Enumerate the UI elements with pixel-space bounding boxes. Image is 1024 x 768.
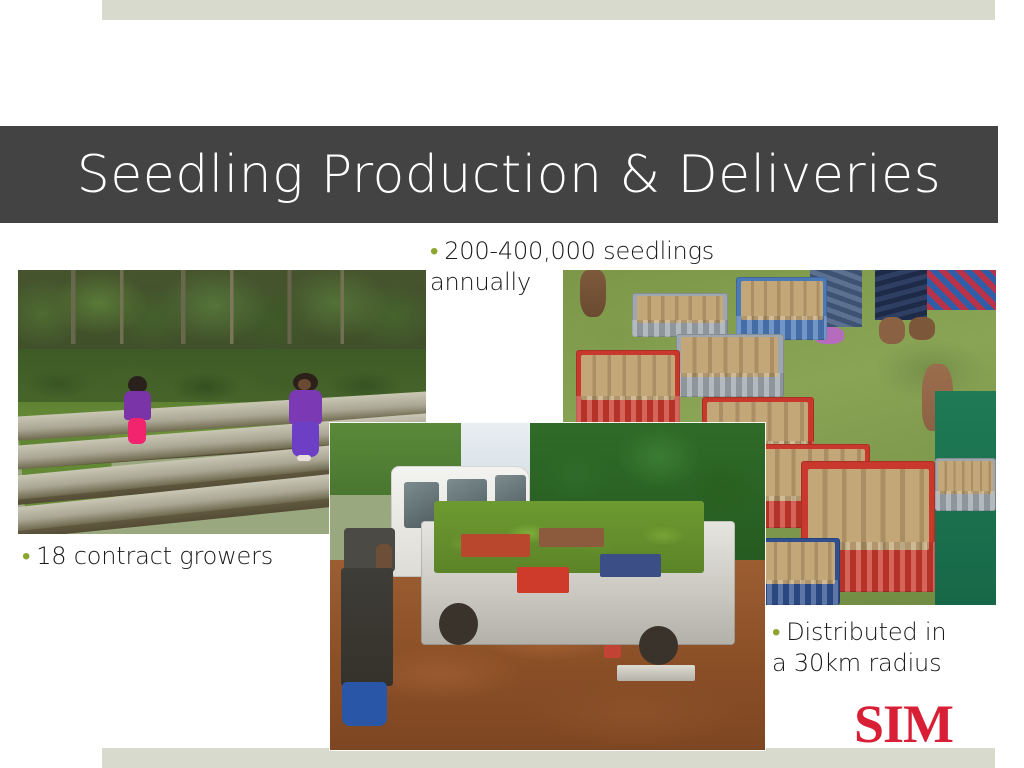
bullet-marker: •	[772, 618, 780, 646]
person-in-boots	[339, 528, 400, 731]
bullet-distribution-radius: •Distributed in a 30km radius	[772, 617, 1002, 678]
child-figure	[124, 376, 151, 445]
bullet-line: •200-400,000 seedlings	[430, 236, 760, 267]
truck-wheel	[439, 603, 478, 646]
bullet-text: a 30km radius	[772, 649, 941, 677]
bare-foot	[879, 317, 905, 344]
bullet-contract-growers: •18 contract growers	[22, 541, 342, 572]
sim-logo: SIM	[854, 697, 953, 751]
bullet-text: 200-400,000 seedlings	[444, 237, 714, 265]
bullet-text: 18 contract growers	[36, 542, 273, 570]
bullet-seedlings: •200-400,000 seedlings annually	[430, 236, 760, 297]
bullet-text: annually	[430, 268, 531, 296]
seedling-tray	[461, 534, 531, 557]
seedling-crate	[632, 293, 727, 337]
slide-canvas: Seedling Production & Deliveries	[0, 0, 1024, 768]
bullet-line: •18 contract growers	[22, 541, 342, 572]
child-figure	[289, 373, 322, 460]
seedling-tray	[600, 554, 661, 577]
bullet-marker: •	[22, 542, 30, 570]
nursery-tree-trunks	[18, 270, 426, 344]
bullet-line: •Distributed in	[772, 617, 1002, 648]
seedling-crate	[576, 350, 680, 424]
title-bar: Seedling Production & Deliveries	[0, 126, 998, 223]
bullet-line: a 30km radius	[772, 648, 1002, 679]
truck-wheel	[639, 626, 678, 665]
person-skirt	[875, 270, 927, 320]
slide-title: Seedling Production & Deliveries	[0, 126, 998, 223]
patterned-dress	[927, 270, 996, 310]
bullet-text: Distributed in	[786, 618, 946, 646]
truck-rear-bumper	[617, 665, 695, 681]
bullet-marker: •	[430, 237, 438, 265]
bullet-line: annually	[430, 267, 760, 298]
truck-taillight	[604, 645, 621, 658]
bare-foot	[909, 317, 935, 340]
top-accent-band	[102, 0, 995, 20]
seedling-tray	[517, 567, 569, 593]
seedling-crate	[935, 458, 996, 512]
seedling-tray	[539, 528, 604, 548]
seedling-crate	[676, 334, 784, 398]
photo-delivery-truck	[330, 423, 765, 750]
